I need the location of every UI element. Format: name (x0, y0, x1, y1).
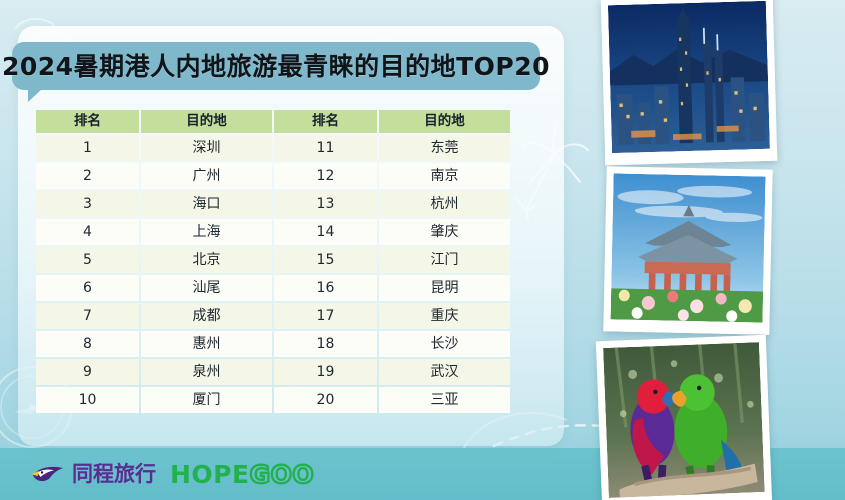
photo-collage (593, 0, 845, 500)
torn-edge (605, 153, 777, 166)
poster-root: 2024暑期港人内地旅游最青睐的目的地TOP20 排名 目的地 排名 目的地 1… (0, 0, 845, 500)
destination-cell-left: 海口 (141, 191, 272, 217)
hopegoo-logo[interactable]: HOPE GOO (170, 462, 314, 487)
table-row: 2广州12南京 (36, 163, 510, 189)
destination-cell-right: 江门 (379, 247, 510, 273)
column-header-rank-left: 排名 (36, 110, 139, 133)
photo-card-parrots (596, 335, 772, 500)
table-row: 1深圳11东莞 (36, 135, 510, 161)
rank-cell-right: 12 (274, 163, 377, 189)
destination-cell-left: 上海 (141, 219, 272, 245)
column-header-dest-left: 目的地 (141, 110, 272, 133)
table-row: 5北京15江门 (36, 247, 510, 273)
destination-cell-left: 成都 (141, 303, 272, 329)
rank-cell-right: 17 (274, 303, 377, 329)
table-row: 10厦门20三亚 (36, 387, 510, 413)
destination-cell-left: 北京 (141, 247, 272, 273)
rank-cell-right: 13 (274, 191, 377, 217)
table-body: 1深圳11东莞2广州12南京3海口13杭州4上海14肇庆5北京15江门6汕尾16… (36, 135, 510, 413)
bird-logo-icon (30, 463, 66, 485)
rank-cell-right: 11 (274, 135, 377, 161)
rank-cell-right: 16 (274, 275, 377, 301)
destination-cell-right: 重庆 (379, 303, 510, 329)
title-banner: 2024暑期港人内地旅游最青睐的目的地TOP20 (12, 42, 540, 90)
column-header-dest-right: 目的地 (379, 110, 510, 133)
rank-cell-left: 6 (36, 275, 139, 301)
destination-cell-right: 武汉 (379, 359, 510, 385)
destination-cell-left: 厦门 (141, 387, 272, 413)
rank-cell-left: 4 (36, 219, 139, 245)
destination-cell-right: 三亚 (379, 387, 510, 413)
ranking-table-container: 排名 目的地 排名 目的地 1深圳11东莞2广州12南京3海口13杭州4上海14… (34, 108, 512, 415)
photo-parrots (603, 342, 765, 498)
rank-cell-left: 8 (36, 331, 139, 357)
rank-cell-left: 9 (36, 359, 139, 385)
destination-cell-right: 杭州 (379, 191, 510, 217)
rank-cell-left: 10 (36, 387, 139, 413)
rank-cell-right: 14 (274, 219, 377, 245)
photo-memorial-hall (611, 173, 766, 322)
rank-cell-left: 1 (36, 135, 139, 161)
column-header-rank-right: 排名 (274, 110, 377, 133)
rank-cell-right: 19 (274, 359, 377, 385)
rank-cell-right: 18 (274, 331, 377, 357)
destination-cell-left: 惠州 (141, 331, 272, 357)
tongcheng-logo[interactable]: 同程旅行 (30, 463, 156, 485)
rank-cell-left: 3 (36, 191, 139, 217)
destination-cell-left: 深圳 (141, 135, 272, 161)
rank-cell-left: 5 (36, 247, 139, 273)
destination-cell-left: 汕尾 (141, 275, 272, 301)
photo-card-memorial-hall (603, 166, 772, 334)
photo-city-skyline (608, 1, 770, 153)
table-row: 7成都17重庆 (36, 303, 510, 329)
destination-cell-right: 南京 (379, 163, 510, 189)
table-head: 排名 目的地 排名 目的地 (36, 110, 510, 133)
destination-cell-right: 昆明 (379, 275, 510, 301)
title-banner-tail (28, 89, 42, 102)
destination-cell-right: 东莞 (379, 135, 510, 161)
table-row: 9泉州19武汉 (36, 359, 510, 385)
hopegoo-suffix: GOO (250, 462, 315, 487)
footer-logos: 同程旅行 HOPE GOO (30, 457, 314, 491)
destination-cell-right: 肇庆 (379, 219, 510, 245)
torn-edge (603, 323, 769, 334)
destination-cell-left: 广州 (141, 163, 272, 189)
destination-cell-right: 长沙 (379, 331, 510, 357)
destination-cell-left: 泉州 (141, 359, 272, 385)
table-row: 4上海14肇庆 (36, 219, 510, 245)
rank-cell-right: 15 (274, 247, 377, 273)
rank-cell-left: 7 (36, 303, 139, 329)
tongcheng-label: 同程旅行 (72, 464, 156, 485)
hopegoo-prefix: HOPE (170, 462, 250, 487)
rank-cell-right: 20 (274, 387, 377, 413)
rank-cell-left: 2 (36, 163, 139, 189)
table-row: 6汕尾16昆明 (36, 275, 510, 301)
table-row: 8惠州18长沙 (36, 331, 510, 357)
photo-card-city-skyline (601, 0, 778, 165)
table-row: 3海口13杭州 (36, 191, 510, 217)
ranking-table: 排名 目的地 排名 目的地 1深圳11东莞2广州12南京3海口13杭州4上海14… (34, 108, 512, 415)
page-title: 2024暑期港人内地旅游最青睐的目的地TOP20 (2, 54, 550, 79)
table-header-row: 排名 目的地 排名 目的地 (36, 110, 510, 133)
